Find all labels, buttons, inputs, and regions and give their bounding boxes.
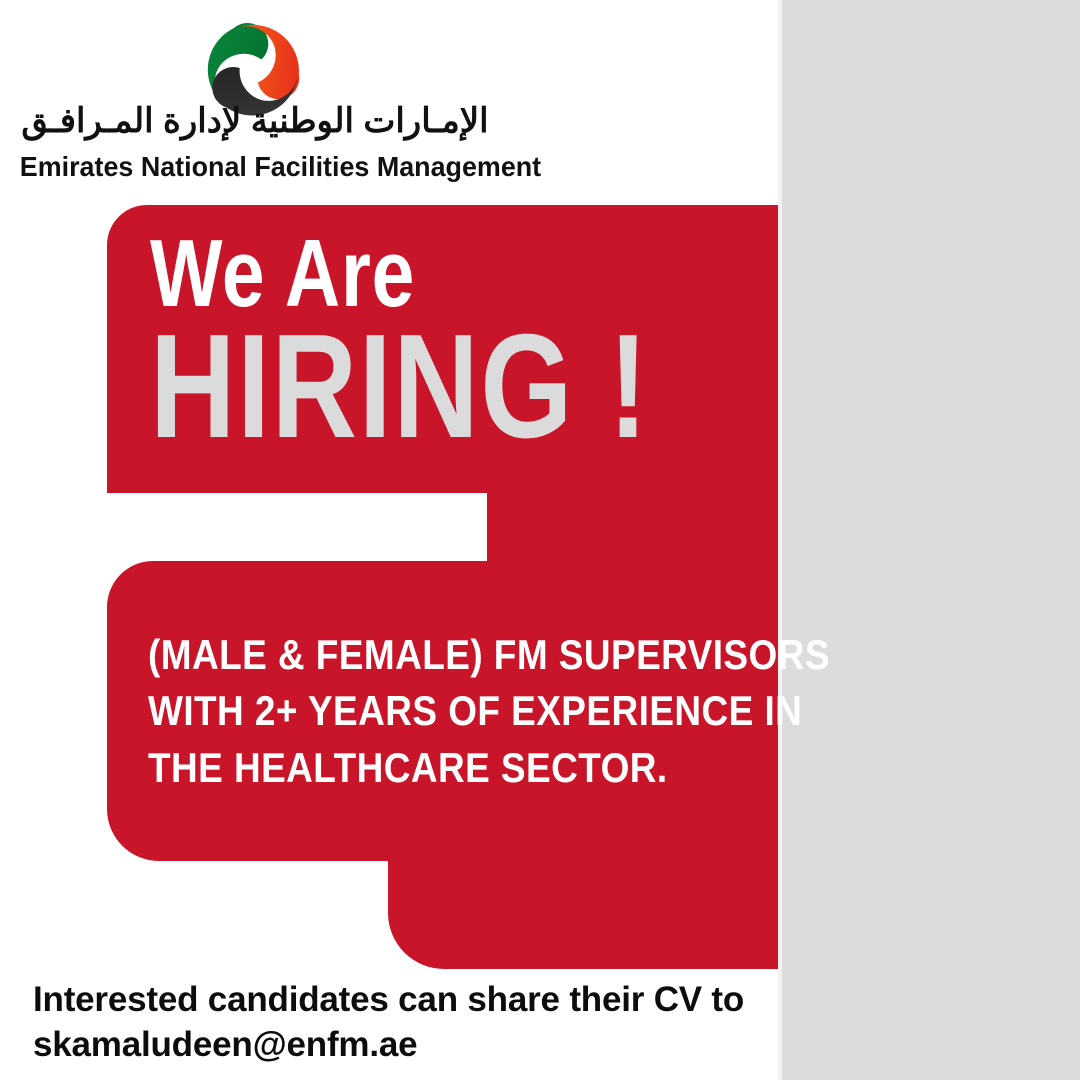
contact-block: Interested candidates can share their CV…: [33, 978, 773, 1068]
red-bridge-connector: [487, 493, 778, 563]
red-panel-tail: [388, 855, 778, 969]
job-description-line-1: (MALE & FEMALE) FM SUPERVISORS: [148, 627, 676, 683]
hiring-poster: الإمـارات الوطنية لإدارة المـرافـق Emira…: [0, 0, 1080, 1080]
brand-name-arabic: الإمـارات الوطنية لإدارة المـرافـق: [10, 103, 500, 140]
job-description-line-3: THE HEALTHCARE SECTOR.: [148, 740, 676, 796]
job-description-line-2: WITH 2+ YEARS OF EXPERIENCE IN: [148, 683, 676, 739]
headline-hiring: HIRING !: [150, 326, 646, 447]
brand-name-latin: Emirates National Facilities Management: [20, 152, 490, 183]
contact-email[interactable]: skamaludeen@enfm.ae: [33, 1023, 773, 1068]
gray-background-field: [782, 0, 1080, 1080]
job-description-block: (MALE & FEMALE) FM SUPERVISORS WITH 2+ Y…: [148, 627, 676, 796]
headline-block: We Are HIRING !: [150, 228, 770, 448]
contact-instruction: Interested candidates can share their CV…: [33, 978, 773, 1023]
